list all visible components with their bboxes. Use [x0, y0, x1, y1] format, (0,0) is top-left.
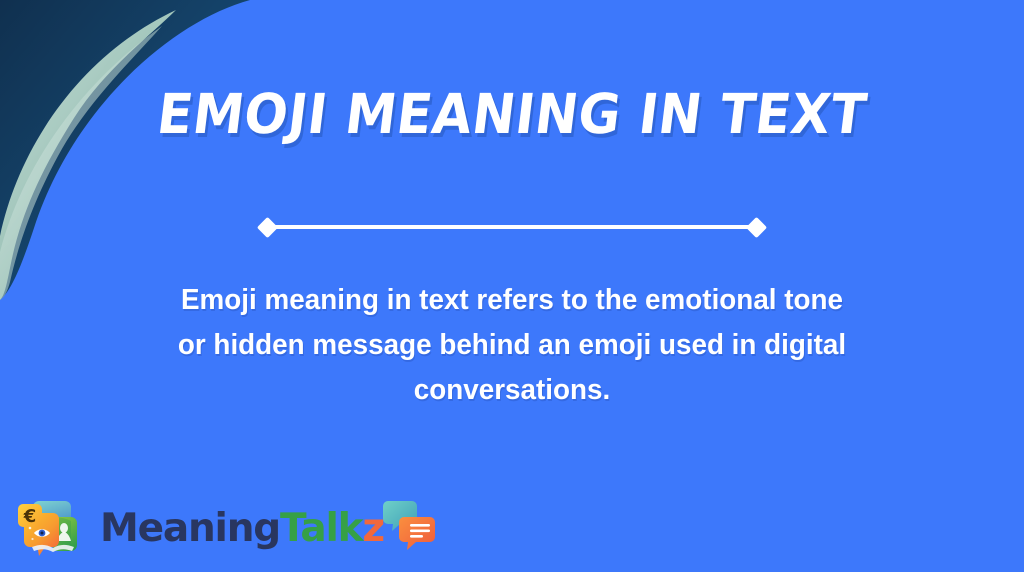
- slide-canvas: EMOJI MEANING IN TEXT Emoji meaning in t…: [0, 0, 1024, 572]
- chat-bubbles-icon: [382, 497, 438, 553]
- logo-word-meaning: Meaning: [100, 506, 280, 551]
- diamond-icon-right: [746, 216, 767, 237]
- speech-bubble-book-logo-icon: €: [12, 492, 96, 562]
- page-title: EMOJI MEANING IN TEXT: [154, 86, 870, 143]
- divider: [266, 225, 758, 229]
- body-text: Emoji meaning in text refers to the emot…: [166, 278, 857, 413]
- svg-text:€: €: [23, 506, 37, 527]
- logo[interactable]: € MeaningTalkz: [12, 492, 438, 562]
- corner-swoosh-decoration: [0, 0, 330, 300]
- title-block: EMOJI MEANING IN TEXT: [0, 86, 1024, 143]
- body-block: Emoji meaning in text refers to the emot…: [152, 278, 872, 413]
- logo-wordmark: MeaningTalkz: [100, 509, 384, 548]
- logo-word-talk: Talk: [280, 506, 362, 551]
- logo-word-z: z: [362, 506, 384, 551]
- diamond-icon-left: [257, 216, 278, 237]
